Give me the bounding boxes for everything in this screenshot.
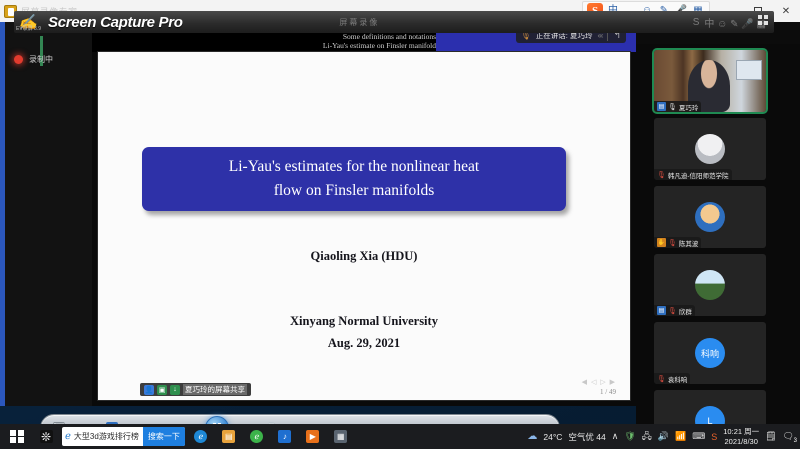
watermark-text-icon: 中 ☺ ✎ 🎤 ▦	[704, 15, 766, 30]
search-button[interactable]: 搜索一下	[143, 427, 185, 446]
slide-title-line-1: Li-Yau's estimates for the nonlinear hea…	[229, 155, 479, 179]
participant-name: 欣群	[679, 306, 692, 316]
avatar-initial: 科响	[695, 338, 725, 368]
participant-name: 陈其波	[679, 238, 699, 248]
participant-tile[interactable]: ▤ 🎙 欣群	[654, 254, 766, 316]
person-icon: 👤	[144, 385, 154, 395]
video-on-icon: ▤	[657, 306, 666, 315]
participant-name: 袁科响	[668, 374, 688, 384]
participant-tile[interactable]: 🎙 韩凡迪-信阳师范学院	[654, 118, 766, 180]
screen-capture-logo: ✍ EV录屏 3.9	[14, 11, 54, 33]
shared-screen-area: Background Some definitions and notation…	[92, 22, 636, 406]
outline-item-2: Li-Yau's estimate on Finsler manifold	[323, 42, 436, 50]
participant-name: 夏巧玲	[679, 102, 699, 112]
pinwheel-icon: ❊	[40, 430, 53, 443]
screen-capture-pro-banner: ✍ EV录屏 3.9 Screen Capture Pro 屏幕录像 S 中 ☺…	[14, 11, 774, 33]
logo-subtitle: EV录屏 3.9	[16, 25, 41, 32]
participant-tile[interactable]: 科响 🎙 袁科响	[654, 322, 766, 384]
resize-grip-icon[interactable]	[758, 15, 772, 29]
mic-muted-icon: 🎙	[668, 239, 677, 247]
taskbar-app-music[interactable]: ♪	[271, 424, 299, 449]
wifi-icon[interactable]: 📶	[675, 431, 686, 442]
360-browser-icon: ℯ	[250, 430, 263, 443]
participant-tile[interactable]: ✋ 🎙 陈其波	[654, 186, 766, 248]
action-center-icon[interactable]: 🗒	[765, 431, 776, 442]
participant-tile[interactable]: ▤ 🎙 夏巧玲	[654, 50, 766, 112]
video-on-icon: ▤	[657, 102, 666, 111]
windows-taskbar: ❊ ℯ 大型3d游戏排行榜 搜索一下 ℯ ▤ ℯ ♪ ▶ ▦ ☁ 24°C 空气…	[0, 424, 800, 449]
shield-icon[interactable]: 🛡	[624, 431, 635, 442]
participant-nametag: ▤ 🎙 夏巧玲	[654, 101, 701, 112]
system-tray: ☁ 24°C 空气优 44 ∧ 🛡 🖧 🔊 📶 ⌨ S 10:21 周一 202…	[527, 427, 798, 446]
keyboard-icon[interactable]: ⌨	[692, 431, 705, 442]
folder-icon: ▤	[222, 430, 235, 443]
screen-root: 录制中 Background Some definitions and nota…	[0, 0, 800, 449]
taskbar-app-360browser[interactable]: ℯ	[243, 424, 271, 449]
banner-title: Screen Capture Pro	[48, 14, 183, 31]
participants-panel: ▤ 🎙 夏巧玲 🎙 韩凡迪-信阳师范学院 ✋ 🎙 陈其波	[636, 44, 800, 428]
participant-nametag: ✋ 🎙 陈其波	[654, 237, 701, 248]
banner-center-hint: 屏幕录像	[339, 17, 379, 28]
mic-muted-icon: 🎙	[657, 171, 666, 179]
tray-weather[interactable]: 24°C	[543, 432, 562, 442]
taskbar-app-explorer[interactable]: ▤	[215, 424, 243, 449]
meeting-window: 录制中 Background Some definitions and nota…	[0, 22, 800, 406]
taskbar-app-video[interactable]: ▶	[299, 424, 327, 449]
slide-page-indicator: 1 / 49	[600, 388, 616, 396]
mic-muted-icon: 🎙	[668, 307, 677, 315]
tray-date: 2021/8/30	[723, 437, 759, 447]
start-button[interactable]	[2, 424, 32, 449]
slide-date: Aug. 29, 2021	[98, 332, 630, 354]
recording-dot-icon	[14, 55, 23, 64]
slide-organization: Xinyang Normal University	[98, 310, 630, 332]
sogou-watermark-icon: S	[693, 17, 700, 28]
slide-organization-block: Xinyang Normal University Aug. 29, 2021	[98, 310, 630, 354]
avatar	[695, 202, 725, 232]
slide-title-line-2: flow on Finsler manifolds	[274, 179, 435, 203]
edge-icon: ℯ	[194, 430, 207, 443]
screen-share-label: 👤 ▣ ↓ 夏巧玲的屏幕共享	[140, 383, 251, 396]
taskbar-app-cortana[interactable]: ❊	[32, 424, 60, 449]
meeting-left-rail: 录制中	[0, 22, 92, 406]
tray-clock[interactable]: 10:21 周一 2021/8/30	[723, 427, 759, 446]
hand-raise-icon: ✋	[657, 238, 666, 247]
network-icon[interactable]: 🖧	[642, 429, 652, 445]
participant-nametag: 🎙 袁科响	[654, 373, 690, 384]
volume-icon[interactable]: 🔊	[658, 431, 669, 442]
notification-icon[interactable]: 🗨	[783, 431, 794, 442]
browser-e-icon: ℯ	[65, 431, 71, 442]
windows-logo-icon	[10, 430, 24, 444]
left-blue-edge	[0, 22, 5, 406]
taskbar-app-store[interactable]: ▦	[327, 424, 355, 449]
mic-muted-icon: 🎙	[657, 375, 666, 383]
download-icon: ↓	[170, 385, 180, 395]
presentation-slide: Li-Yau's estimates for the nonlinear hea…	[98, 52, 630, 400]
video-icon: ▣	[157, 385, 167, 395]
tray-expand-icon[interactable]: ∧	[612, 431, 619, 442]
music-icon: ♪	[278, 430, 291, 443]
recording-indicator[interactable]: 录制中	[14, 54, 53, 65]
slide-author: Qiaoling Xia (HDU)	[98, 249, 630, 264]
tray-air-quality[interactable]: 空气优 44	[568, 431, 605, 443]
slide-nav-controls[interactable]: ◀ ◁ ▷ ▶	[582, 378, 616, 386]
mic-on-icon: 🎙	[668, 103, 677, 111]
store-icon: ▦	[334, 430, 347, 443]
sogou-tray-icon[interactable]: S	[711, 432, 717, 442]
background-monitor	[736, 60, 762, 80]
taskbar-search[interactable]: ℯ 大型3d游戏排行榜 搜索一下	[62, 427, 185, 446]
taskbar-app-edge[interactable]: ℯ	[187, 424, 215, 449]
close-button[interactable]: ✕	[772, 0, 800, 22]
slide-title-box: Li-Yau's estimates for the nonlinear hea…	[142, 147, 566, 211]
video-player-icon: ▶	[306, 430, 319, 443]
avatar	[695, 134, 725, 164]
avatar	[695, 270, 725, 300]
weather-cloud-icon: ☁	[527, 431, 537, 442]
recording-label: 录制中	[29, 54, 53, 65]
tray-time: 10:21 周一	[723, 427, 759, 437]
participant-nametag: ▤ 🎙 欣群	[654, 305, 695, 316]
participant-nametag: 🎙 韩凡迪-信阳师范学院	[654, 169, 732, 180]
share-owner-label: 夏巧玲的屏幕共享	[183, 384, 247, 395]
search-input[interactable]: 大型3d游戏排行榜	[74, 431, 143, 442]
participant-name: 韩凡迪-信阳师范学院	[668, 170, 729, 180]
